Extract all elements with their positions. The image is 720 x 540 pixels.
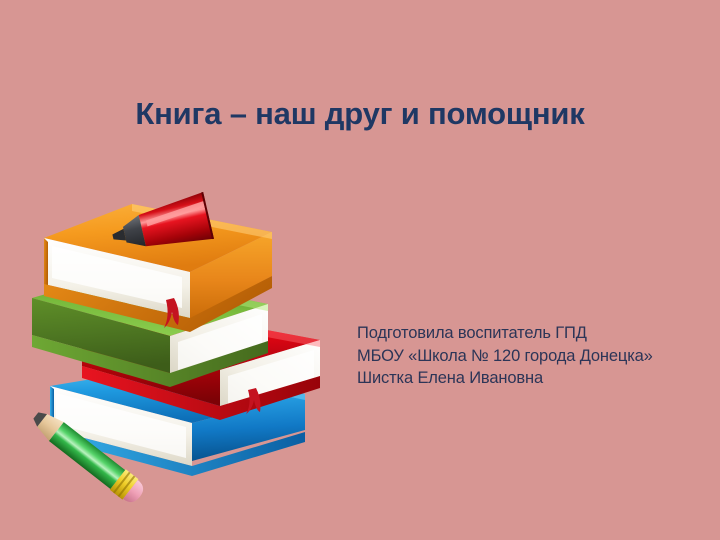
- author-line-3: Шистка Елена Ивановна: [357, 367, 707, 390]
- author-line-1: Подготовила воспитатель ГПД: [357, 322, 707, 345]
- page-title: Книга – наш друг и помощник: [40, 96, 680, 132]
- author-credit-block: Подготовила воспитатель ГПД МБОУ «Школа …: [357, 322, 707, 390]
- stack-of-books-illustration: [20, 180, 340, 510]
- presentation-slide: Книга – наш друг и помощник: [0, 0, 720, 540]
- author-line-2: МБОУ «Школа № 120 города Донецка»: [357, 345, 707, 368]
